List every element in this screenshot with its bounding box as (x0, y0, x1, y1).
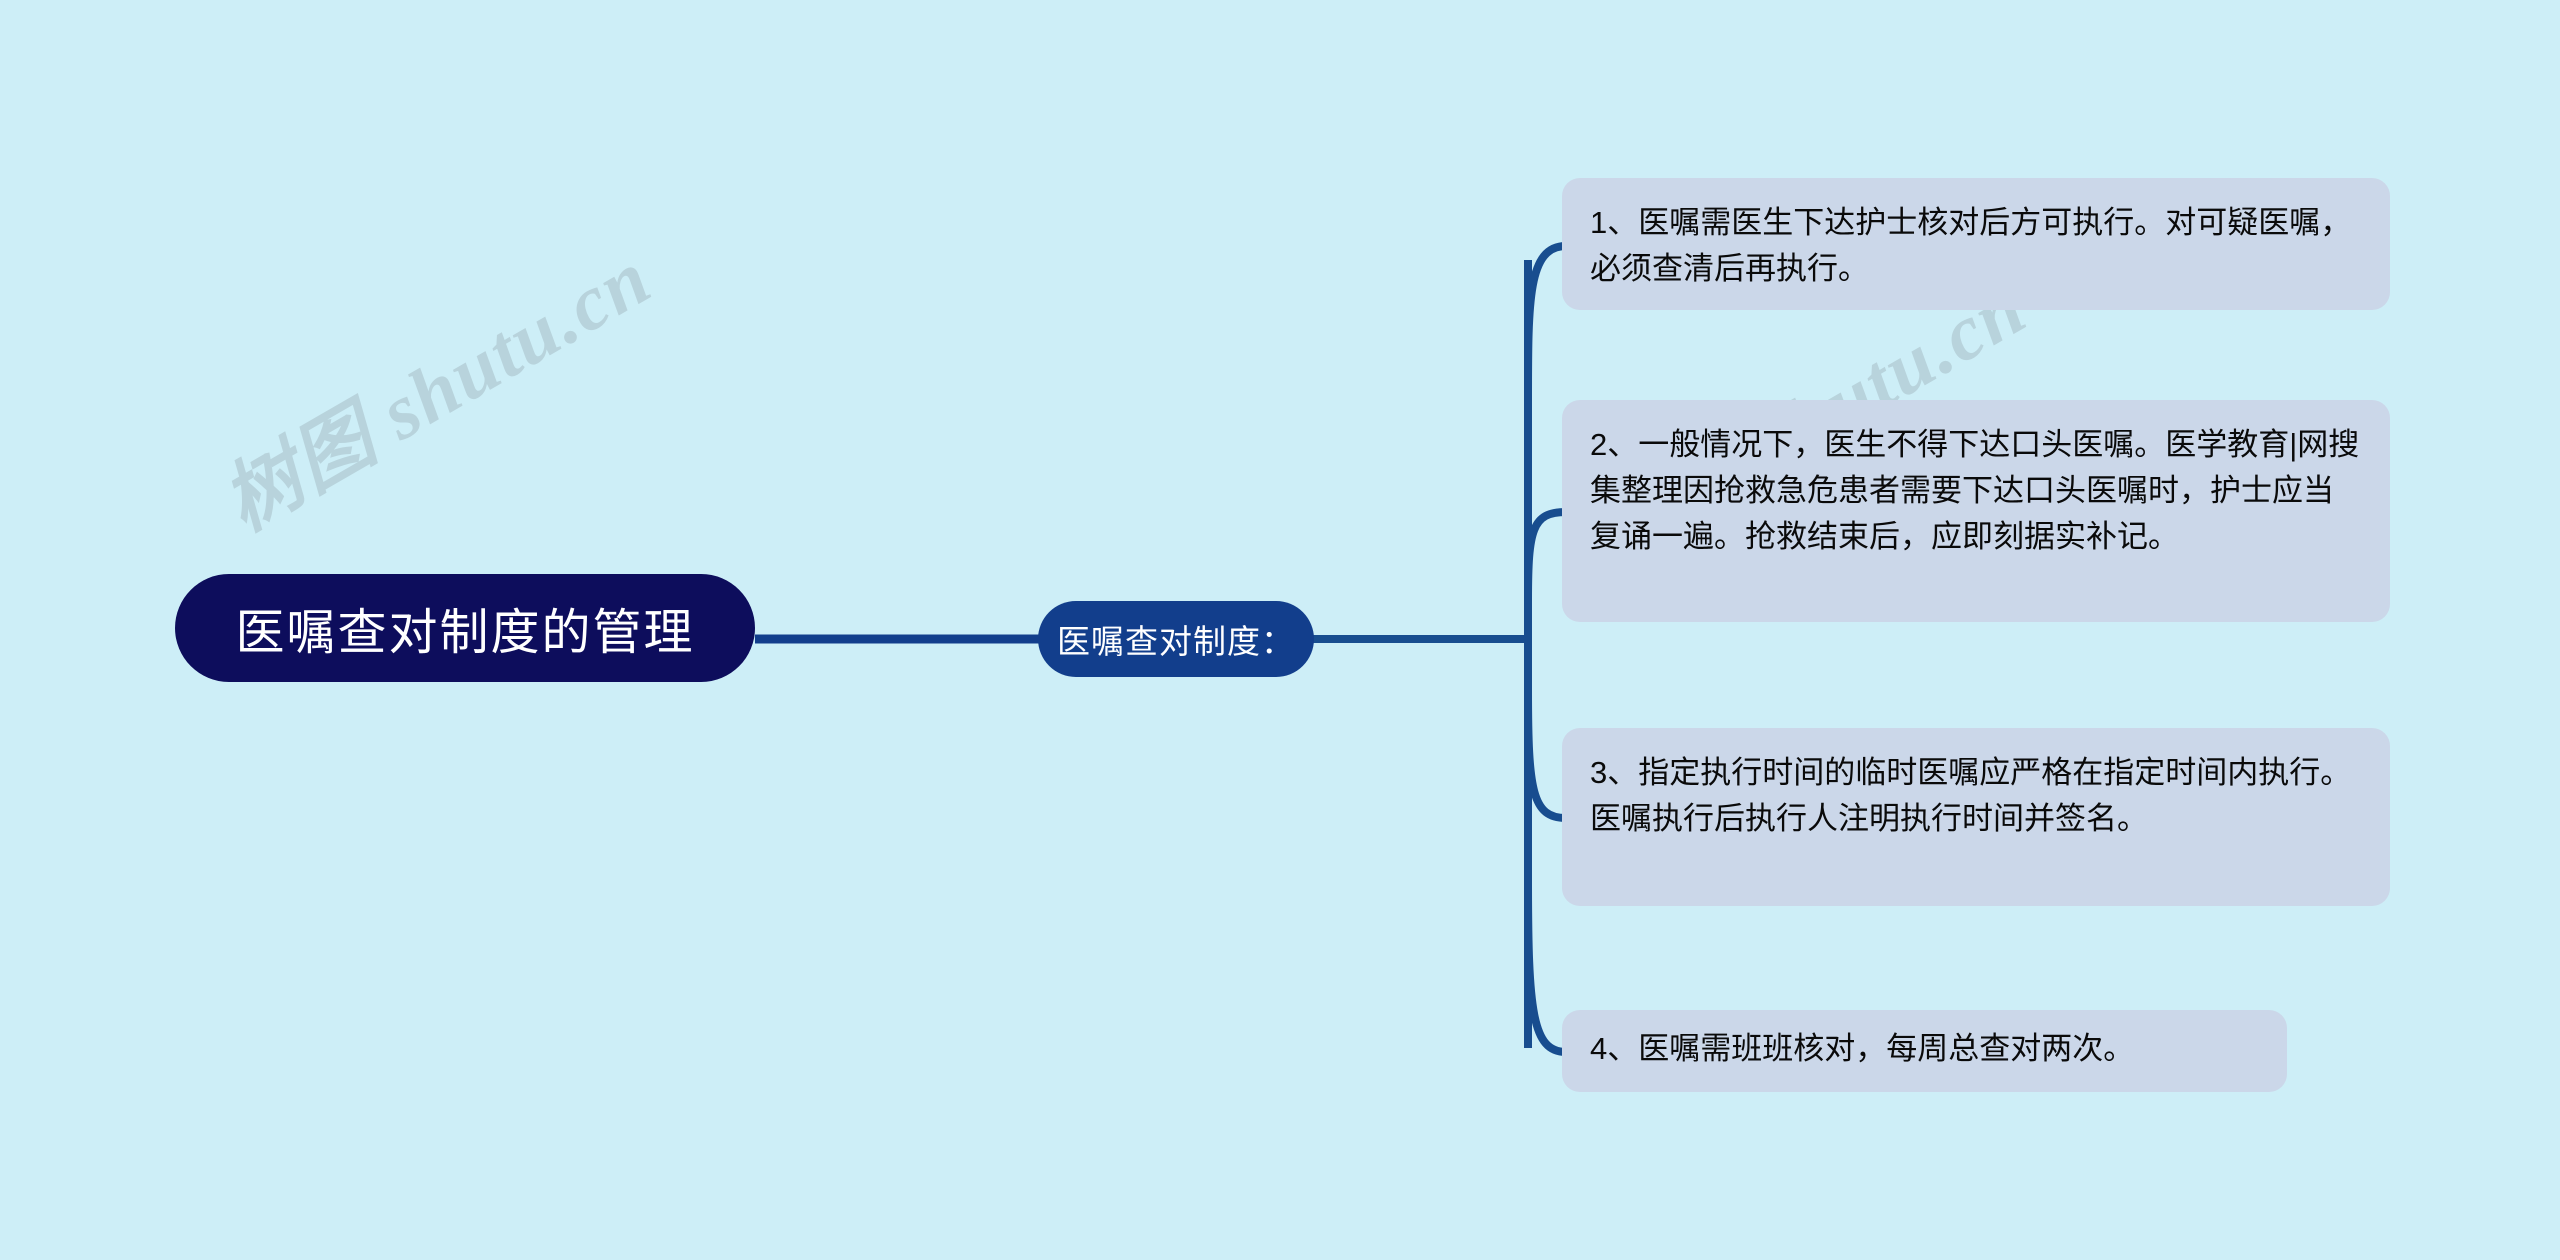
branch-node-yizhu-chadui[interactable]: 医嘱查对制度： (1038, 601, 1314, 677)
leaf-node-2[interactable]: 2、一般情况下，医生不得下达口头医嘱。医学教育|网搜集整理因抢救急危患者需要下达… (1562, 400, 2390, 622)
root-node[interactable]: 医嘱查对制度的管理 (175, 574, 755, 682)
link-to-leaf-4 (1528, 880, 1566, 1052)
link-to-leaf-3 (1528, 690, 1566, 818)
leaf-node-4-text: 4、医嘱需班班核对，每周总查对两次。 (1590, 1031, 2134, 1066)
leaf-node-2-text: 2、一般情况下，医生不得下达口头医嘱。医学教育|网搜集整理因抢救急危患者需要下达… (1590, 427, 2359, 554)
leaf-node-3-text: 3、指定执行时间的临时医嘱应严格在指定时间内执行。医嘱执行后执行人注明执行时间并… (1590, 755, 2351, 836)
link-to-leaf-2 (1528, 512, 1566, 600)
leaf-node-1[interactable]: 1、医嘱需医生下达护士核对后方可执行。对可疑医嘱，必须查清后再执行。 (1562, 178, 2390, 310)
branch-node-label: 医嘱查对制度： (1057, 615, 1295, 663)
mindmap-canvas: 树图 shutu.cn 树图 shutu.cn 医嘱查对制度的管理 医嘱查对制度… (0, 0, 2560, 1260)
watermark-left: 树图 shutu.cn (199, 216, 668, 552)
leaf-node-3[interactable]: 3、指定执行时间的临时医嘱应严格在指定时间内执行。医嘱执行后执行人注明执行时间并… (1562, 728, 2390, 906)
link-to-leaf-1 (1528, 246, 1566, 400)
leaf-node-4[interactable]: 4、医嘱需班班核对，每周总查对两次。 (1562, 1010, 2287, 1092)
leaf-node-1-text: 1、医嘱需医生下达护士核对后方可执行。对可疑医嘱，必须查清后再执行。 (1590, 205, 2351, 286)
root-node-label: 医嘱查对制度的管理 (235, 593, 694, 664)
